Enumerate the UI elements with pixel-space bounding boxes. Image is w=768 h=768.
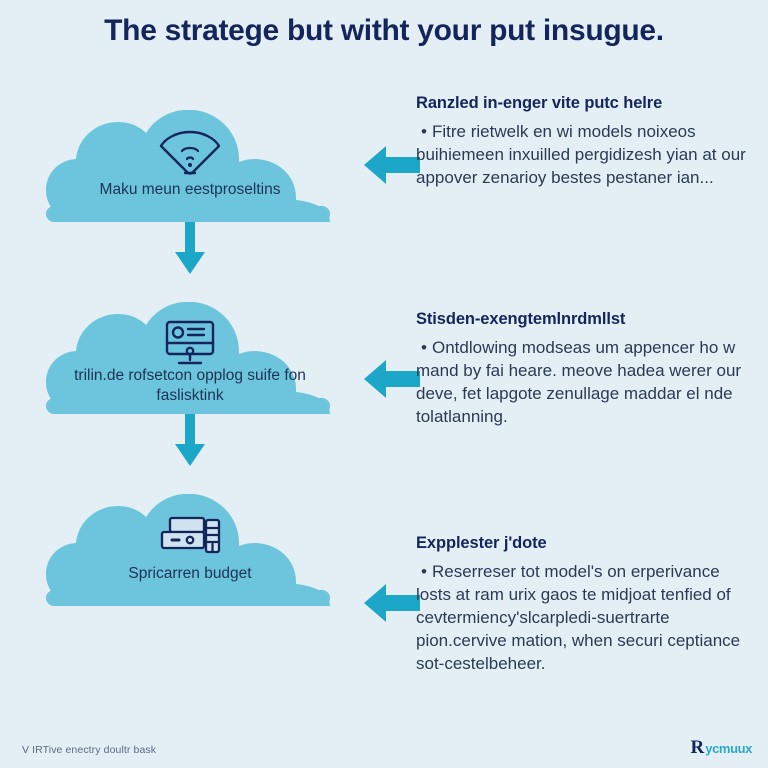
cloud-shape-3[interactable]: Spricarren budget [40, 494, 340, 612]
list-item: •Reserreser tot model's on erperivance l… [416, 560, 746, 676]
list-item: •Ontdlowing modseas um appencer ho w man… [416, 336, 746, 428]
brand-logo: R ycmuux [691, 738, 752, 757]
brand-wordmark: ycmuux [705, 742, 752, 755]
cloud-label-2: trilin.de rofsetcon opplog suife fon fas… [52, 366, 328, 406]
callout-block-2: Stisden-exengtemlnrdmllst •Ontdlowing mo… [416, 310, 746, 428]
cloud-flow-column: Maku meun eestproseltins [18, 88, 370, 688]
desktop-monitor-icon [154, 318, 226, 370]
arrow-left-icon [362, 358, 422, 400]
callout-heading-3: Expplester j'dote [416, 534, 746, 554]
page-title: The stratege but witht your put insugue. [0, 14, 768, 49]
infographic-canvas: The stratege but witht your put insugue. [0, 0, 768, 768]
arrow-left-icon [362, 582, 422, 624]
arrow-down-icon [173, 414, 207, 468]
satellite-dish-icon [154, 126, 226, 178]
cloud-label-3: Spricarren budget [52, 564, 328, 584]
cloud-shape-2[interactable]: trilin.de rofsetcon opplog suife fon fas… [40, 302, 340, 420]
callout-body-list-3: •Reserreser tot model's on erperivance l… [416, 560, 746, 676]
flow-step-3: Spricarren budget [18, 472, 370, 622]
cloud-shape-1[interactable]: Maku meun eestproseltins [40, 110, 340, 228]
callout-arrow-2 [362, 358, 422, 400]
callout-body-text-2: Ontdlowing modseas um appencer ho w mand… [416, 338, 741, 426]
cloud-label-1: Maku meun eestproseltins [52, 180, 328, 200]
brand-initial: R [691, 738, 705, 757]
bullet-icon: • [416, 336, 432, 359]
flow-connector-arrow-1 [173, 222, 207, 276]
callout-body-text-1: Fitre rietwelk en wi models noixeos buih… [416, 122, 746, 187]
flow-step-1: Maku meun eestproseltins [18, 88, 370, 238]
footer-note: V IRTive enectry doultr bask [22, 744, 156, 756]
flow-step-2: trilin.de rofsetcon opplog suife fon fas… [18, 280, 370, 430]
callout-body-text-3: Reserreser tot model's on erperivance lo… [416, 562, 740, 673]
list-item: •Fitre rietwelk en wi models noixeos bui… [416, 120, 746, 189]
server-rack-icon [154, 510, 226, 562]
callout-heading-1: Ranzled in-enger vite putc helre [416, 94, 746, 114]
callout-body-list-1: •Fitre rietwelk en wi models noixeos bui… [416, 120, 746, 189]
callout-arrow-1 [362, 144, 422, 186]
callout-body-list-2: •Ontdlowing modseas um appencer ho w man… [416, 336, 746, 428]
callout-block-3: Expplester j'dote •Reserreser tot model'… [416, 534, 746, 675]
arrow-down-icon [173, 222, 207, 276]
bullet-icon: • [416, 560, 432, 583]
bullet-icon: • [416, 120, 432, 143]
flow-connector-arrow-2 [173, 414, 207, 468]
page-title-text: The stratege but witht your put insugue. [104, 14, 664, 49]
callout-arrow-3 [362, 582, 422, 624]
callout-block-1: Ranzled in-enger vite putc helre •Fitre … [416, 94, 746, 189]
callout-heading-2: Stisden-exengtemlnrdmllst [416, 310, 746, 330]
arrow-left-icon [362, 144, 422, 186]
